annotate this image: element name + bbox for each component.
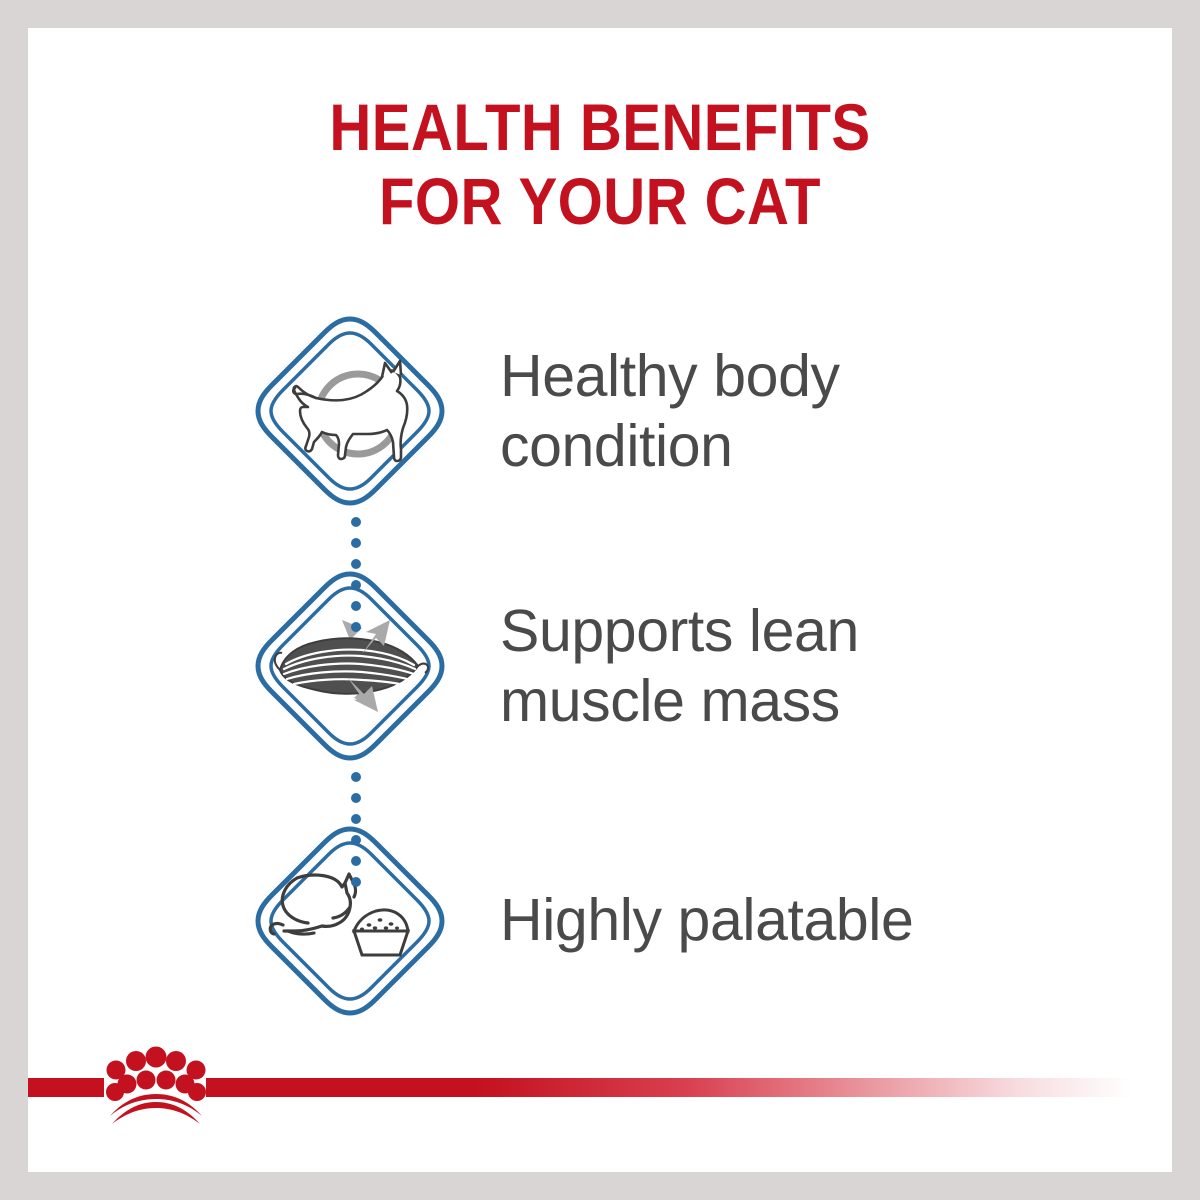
connector-dot (351, 877, 361, 887)
page-frame: HEALTH BENEFITS FOR YOUR CAT (0, 0, 1200, 1200)
page-title-line-2: FOR YOUR CAT (97, 164, 1104, 238)
benefit-label-line-1: Highly palatable (500, 885, 1140, 955)
benefit-item-highly-palatable: Highly palatable (28, 821, 1172, 1021)
footer (28, 1038, 1172, 1130)
connector-dot (351, 517, 361, 527)
connector-dots-2 (350, 772, 362, 887)
connector-dot (351, 856, 361, 866)
benefit-label: Healthy body condition (500, 341, 1140, 481)
benefits-list: Healthy body condition (28, 311, 1172, 1021)
footer-accent-bar-right (206, 1078, 1172, 1097)
page-title: HEALTH BENEFITS FOR YOUR CAT (28, 90, 1172, 238)
benefit-item-healthy-body-condition: Healthy body condition (28, 311, 1172, 511)
connector-dot (351, 559, 361, 569)
benefit-label: Supports lean muscle mass (500, 596, 1140, 736)
royal-canin-crown-logo (100, 1044, 212, 1130)
footer-accent-bar-left (28, 1078, 104, 1097)
benefit-item-supports-lean-muscle-mass: Supports lean muscle mass (28, 566, 1172, 766)
connector-dot (351, 622, 361, 632)
connector-dots-1 (350, 517, 362, 632)
cat-body-condition-icon (250, 311, 450, 511)
benefit-label-line-1: Supports lean (500, 596, 1140, 666)
connector-dot (351, 538, 361, 548)
connector-dot (351, 601, 361, 611)
benefit-label: Highly palatable (500, 885, 1140, 955)
connector-dot (351, 835, 361, 845)
benefit-label-line-2: condition (500, 411, 1140, 481)
content-canvas: HEALTH BENEFITS FOR YOUR CAT (28, 28, 1172, 1172)
page-title-line-1: HEALTH BENEFITS (97, 90, 1104, 164)
connector-dot (351, 814, 361, 824)
connector-dot (351, 793, 361, 803)
benefit-label-line-2: muscle mass (500, 666, 1140, 736)
connector-dot (351, 772, 361, 782)
connector-dot (351, 580, 361, 590)
benefit-label-line-1: Healthy body (500, 341, 1140, 411)
